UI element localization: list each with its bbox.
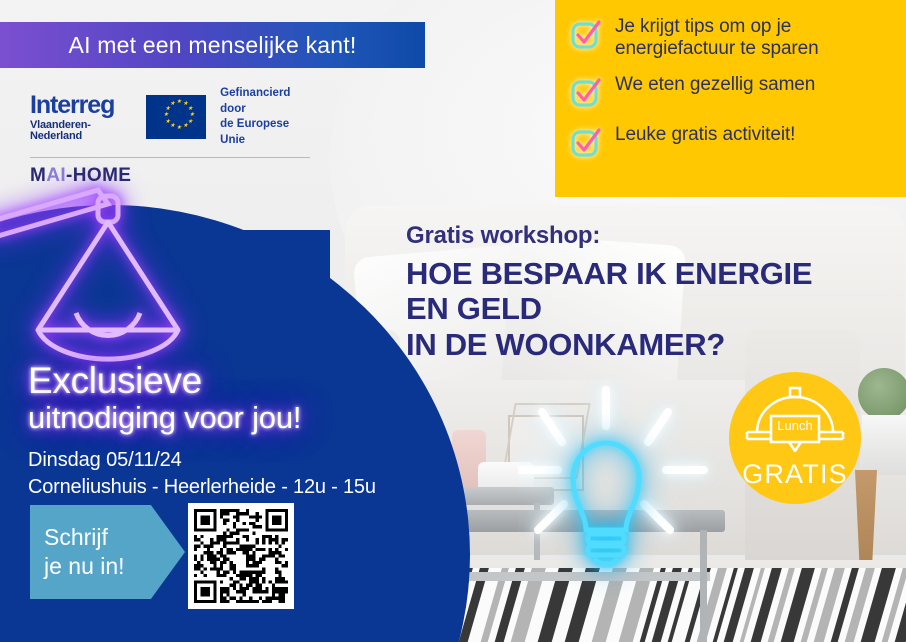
project-logo: MAI-HOME (30, 165, 310, 187)
eu-flag-icon: ★★★★★★★★★★★★ (146, 95, 206, 139)
benefit-label: We eten gezellig samen (615, 74, 815, 96)
invitation-line-1: Exclusieve (28, 362, 388, 400)
header-ribbon: AI met een menselijke kant! (0, 22, 425, 68)
headline-line-2: EN GELD (406, 291, 876, 326)
workshop-title-block: Gratis workshop: HOE BESPAAR IK ENERGIE … (406, 222, 876, 362)
project-prefix: M (30, 165, 46, 186)
eu-funding-line1: Gefinancierd door (220, 86, 310, 117)
invitation-line-2: uitnodiging voor jou! (28, 401, 388, 436)
signup-line-1: Schrijf (44, 523, 185, 552)
event-location: Corneliushuis - Heerlerheide - 12u - 15u (28, 476, 388, 499)
interreg-wordmark: Interreg (30, 93, 132, 118)
signup-line-2: je nu in! (44, 552, 185, 581)
interreg-logo: Interreg Vlaanderen-Nederland (30, 93, 132, 142)
project-suffix: -HOME (66, 165, 131, 186)
eu-funding-line2: de Europese Unie (220, 117, 310, 148)
headline-line-3: IN DE WOONKAMER? (406, 327, 876, 362)
workshop-kicker: Gratis workshop: (406, 222, 876, 250)
potted-plant-pot (862, 415, 906, 475)
qr-code-icon[interactable] (188, 503, 294, 609)
poster-canvas: AI met een menselijke kant! Interreg Vla… (0, 0, 906, 642)
workshop-headline: HOE BESPAAR IK ENERGIE EN GELD IN DE WOO… (406, 256, 876, 362)
benefit-item: Je krijgt tips om op je energiefactuur t… (569, 16, 894, 60)
potted-plant-foliage (858, 368, 906, 420)
event-date: Dinsdag 05/11/24 (28, 449, 388, 472)
project-ai: AI (46, 165, 66, 186)
divider (30, 157, 310, 158)
invitation-block: Exclusieve uitnodiging voor jou! Dinsdag… (28, 362, 388, 499)
lunch-gratis-badge: Lunch GRATIS (729, 372, 861, 504)
benefits-list: Je krijgt tips om op je energiefactuur t… (555, 0, 906, 160)
benefit-label: Leuke gratis activiteit! (615, 124, 795, 146)
eu-funding-text: Gefinancierd door de Europese Unie (220, 86, 310, 148)
check-square-icon (569, 126, 603, 160)
benefit-label: Je krijgt tips om op je energiefactuur t… (615, 16, 894, 60)
badge-label: Lunch (729, 418, 861, 433)
neon-light-bulb-icon (518, 378, 723, 603)
neon-pendant-lamp-icon (0, 182, 240, 367)
benefits-panel: Je krijgt tips om op je energiefactuur t… (555, 0, 906, 197)
badge-value: GRATIS (742, 459, 848, 490)
benefit-item: We eten gezellig samen (569, 74, 894, 110)
ribbon-text: AI met een menselijke kant! (69, 32, 357, 59)
check-square-icon (569, 76, 603, 110)
check-square-icon (569, 18, 603, 52)
headline-line-1: HOE BESPAAR IK ENERGIE (406, 256, 876, 291)
logo-block: Interreg Vlaanderen-Nederland ★★★★★★★★★★… (30, 86, 310, 187)
benefit-item: Leuke gratis activiteit! (569, 124, 894, 160)
interreg-region-label: Vlaanderen-Nederland (30, 120, 132, 142)
